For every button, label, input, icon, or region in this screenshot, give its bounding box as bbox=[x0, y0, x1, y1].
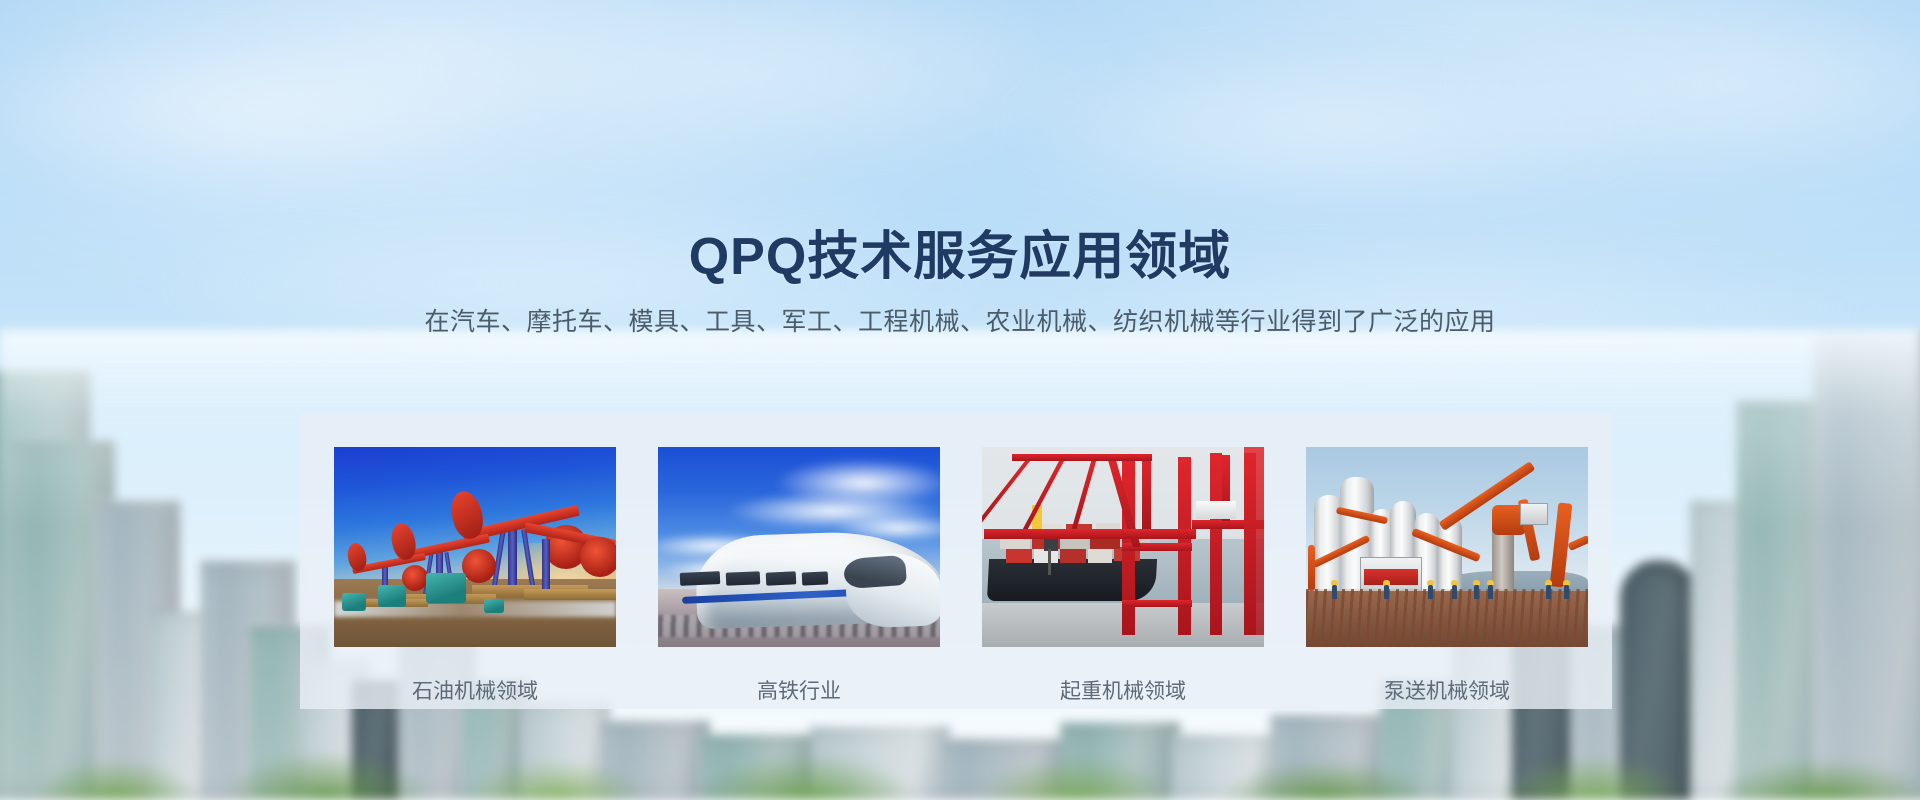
application-card-oil[interactable]: 石油机械领域 bbox=[334, 447, 616, 702]
applications-panel: 石油机械领域 高铁行业 bbox=[300, 414, 1612, 709]
worker bbox=[1428, 585, 1433, 599]
hoist-cable bbox=[1048, 549, 1051, 575]
container bbox=[1088, 549, 1112, 563]
pump-boom-mast bbox=[1308, 545, 1315, 591]
crane-boom bbox=[984, 529, 1196, 539]
container bbox=[1034, 549, 1058, 563]
wellhead-valve bbox=[426, 573, 466, 603]
application-card-pump[interactable]: 泵送机械领域 bbox=[1306, 447, 1588, 702]
worker bbox=[1546, 585, 1551, 599]
worker bbox=[1564, 585, 1569, 599]
oil-machinery-image[interactable] bbox=[334, 447, 616, 647]
worker bbox=[1332, 585, 1337, 599]
crane-top bbox=[1012, 454, 1152, 461]
card-label: 高铁行业 bbox=[658, 681, 940, 702]
tree-line bbox=[0, 714, 1920, 800]
page-title: QPQ技术服务应用领域 bbox=[0, 231, 1920, 283]
crane-machinery-image[interactable] bbox=[982, 447, 1264, 647]
pump-control-box bbox=[1520, 503, 1548, 525]
crane-brace bbox=[1122, 600, 1192, 607]
crane-tower bbox=[1142, 457, 1151, 529]
worker bbox=[1384, 585, 1389, 599]
worker bbox=[1474, 585, 1479, 599]
wellhead-valve bbox=[342, 593, 366, 611]
container bbox=[1006, 549, 1032, 563]
high-speed-rail-image[interactable] bbox=[658, 447, 940, 647]
application-card-crane[interactable]: 起重机械领域 bbox=[982, 447, 1264, 702]
card-label: 泵送机械领域 bbox=[1306, 681, 1588, 702]
hero-header: QPQ技术服务应用领域 在汽车、摩托车、模具、工具、军工、工程机械、农业机械、纺… bbox=[0, 0, 1920, 335]
pumpjack bbox=[524, 511, 616, 595]
wellhead-valve bbox=[484, 599, 504, 613]
pumping-machinery-image[interactable] bbox=[1306, 447, 1588, 647]
application-card-list: 石油机械领域 高铁行业 bbox=[334, 447, 1588, 702]
crane-operator-cab bbox=[1196, 501, 1236, 519]
card-label: 起重机械领域 bbox=[982, 681, 1264, 702]
wellhead-valve bbox=[378, 585, 406, 607]
card-label: 石油机械领域 bbox=[334, 681, 616, 702]
crane-trolley bbox=[1044, 539, 1058, 551]
worker bbox=[1452, 585, 1457, 599]
train-windshield bbox=[843, 555, 907, 589]
container bbox=[1060, 549, 1086, 563]
train-window bbox=[802, 571, 829, 585]
crane-leg bbox=[1210, 453, 1222, 635]
train-window bbox=[680, 571, 721, 586]
worker bbox=[1488, 585, 1493, 599]
cement-silo bbox=[1438, 517, 1462, 595]
train-window bbox=[726, 571, 761, 586]
red-banner bbox=[1364, 569, 1418, 585]
train-window bbox=[766, 571, 797, 585]
page-subtitle: 在汽车、摩托车、模具、工具、军工、工程机械、农业机械、纺织机械等行业得到了广泛的… bbox=[0, 310, 1920, 335]
application-card-railway[interactable]: 高铁行业 bbox=[658, 447, 940, 702]
crane-structure bbox=[1244, 447, 1264, 635]
